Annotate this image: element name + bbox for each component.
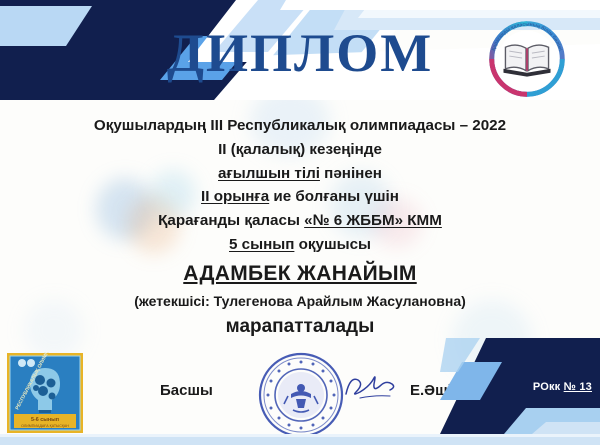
- body-line-4: II орынға ие болғаны үшін: [30, 187, 570, 207]
- body-line-6-rest: оқушысы: [294, 236, 371, 253]
- education-department-emblem: Қарағанды қаласының білім бөлімі: [478, 10, 576, 108]
- body-line-6: 5 сынып оқушысы: [30, 235, 570, 255]
- body-line-2: II (қалалық) кезеңінде: [30, 140, 570, 160]
- grade-level: 5 сынып: [229, 236, 294, 253]
- olympiad-stamp: 5-6 сынып ОЛИМПИАДАҒА ҚАТЫСҚАН РЕСПУБЛИК…: [6, 352, 84, 434]
- body-line-1: Оқушылардың III Республикалық олимпиадас…: [30, 116, 570, 136]
- supervisor-name: (жетекшісі: Тулегенова Арайлым Жасуланов…: [30, 293, 570, 309]
- school-name: «№ 6 ЖББМ» КММ: [304, 212, 442, 229]
- signature-person-name: Е.Әшім: [410, 382, 463, 399]
- badge-prefix: РОкк: [533, 381, 564, 393]
- diploma-certificate: ДИПЛОМ: [0, 0, 600, 445]
- subject-name: ағылшын тілі: [218, 165, 320, 182]
- stamp-footer-text: 5-6 сынып: [31, 417, 59, 423]
- body-line-3: ағылшын тілі пәнінен: [30, 164, 570, 184]
- certificate-body: Оқушылардың III Республикалық олимпиадас…: [30, 116, 570, 338]
- city-name: Қарағанды қаласы: [158, 212, 304, 229]
- signature-role-label: Басшы: [160, 382, 213, 399]
- bottom-accent-strip: [0, 434, 600, 445]
- place-awarded: II орынға: [201, 188, 269, 205]
- badge-number: № 13: [564, 381, 592, 393]
- status-badge: РОкк № 13: [533, 381, 592, 393]
- stamp-subfooter-text: ОЛИМПИАДАҒА ҚАТЫСҚАН: [21, 424, 69, 428]
- official-round-seal: [258, 352, 344, 438]
- award-verb: марапатталады: [30, 316, 570, 338]
- body-line-3-rest: пәнінен: [320, 165, 382, 182]
- student-name: АДАМБЕК ЖАНАЙЫМ: [30, 262, 570, 286]
- body-line-4-rest: ие болғаны үшін: [269, 188, 399, 205]
- body-line-5: Қарағанды қаласы «№ 6 ЖББМ» КММ: [30, 211, 570, 231]
- handwritten-signature: [340, 368, 400, 404]
